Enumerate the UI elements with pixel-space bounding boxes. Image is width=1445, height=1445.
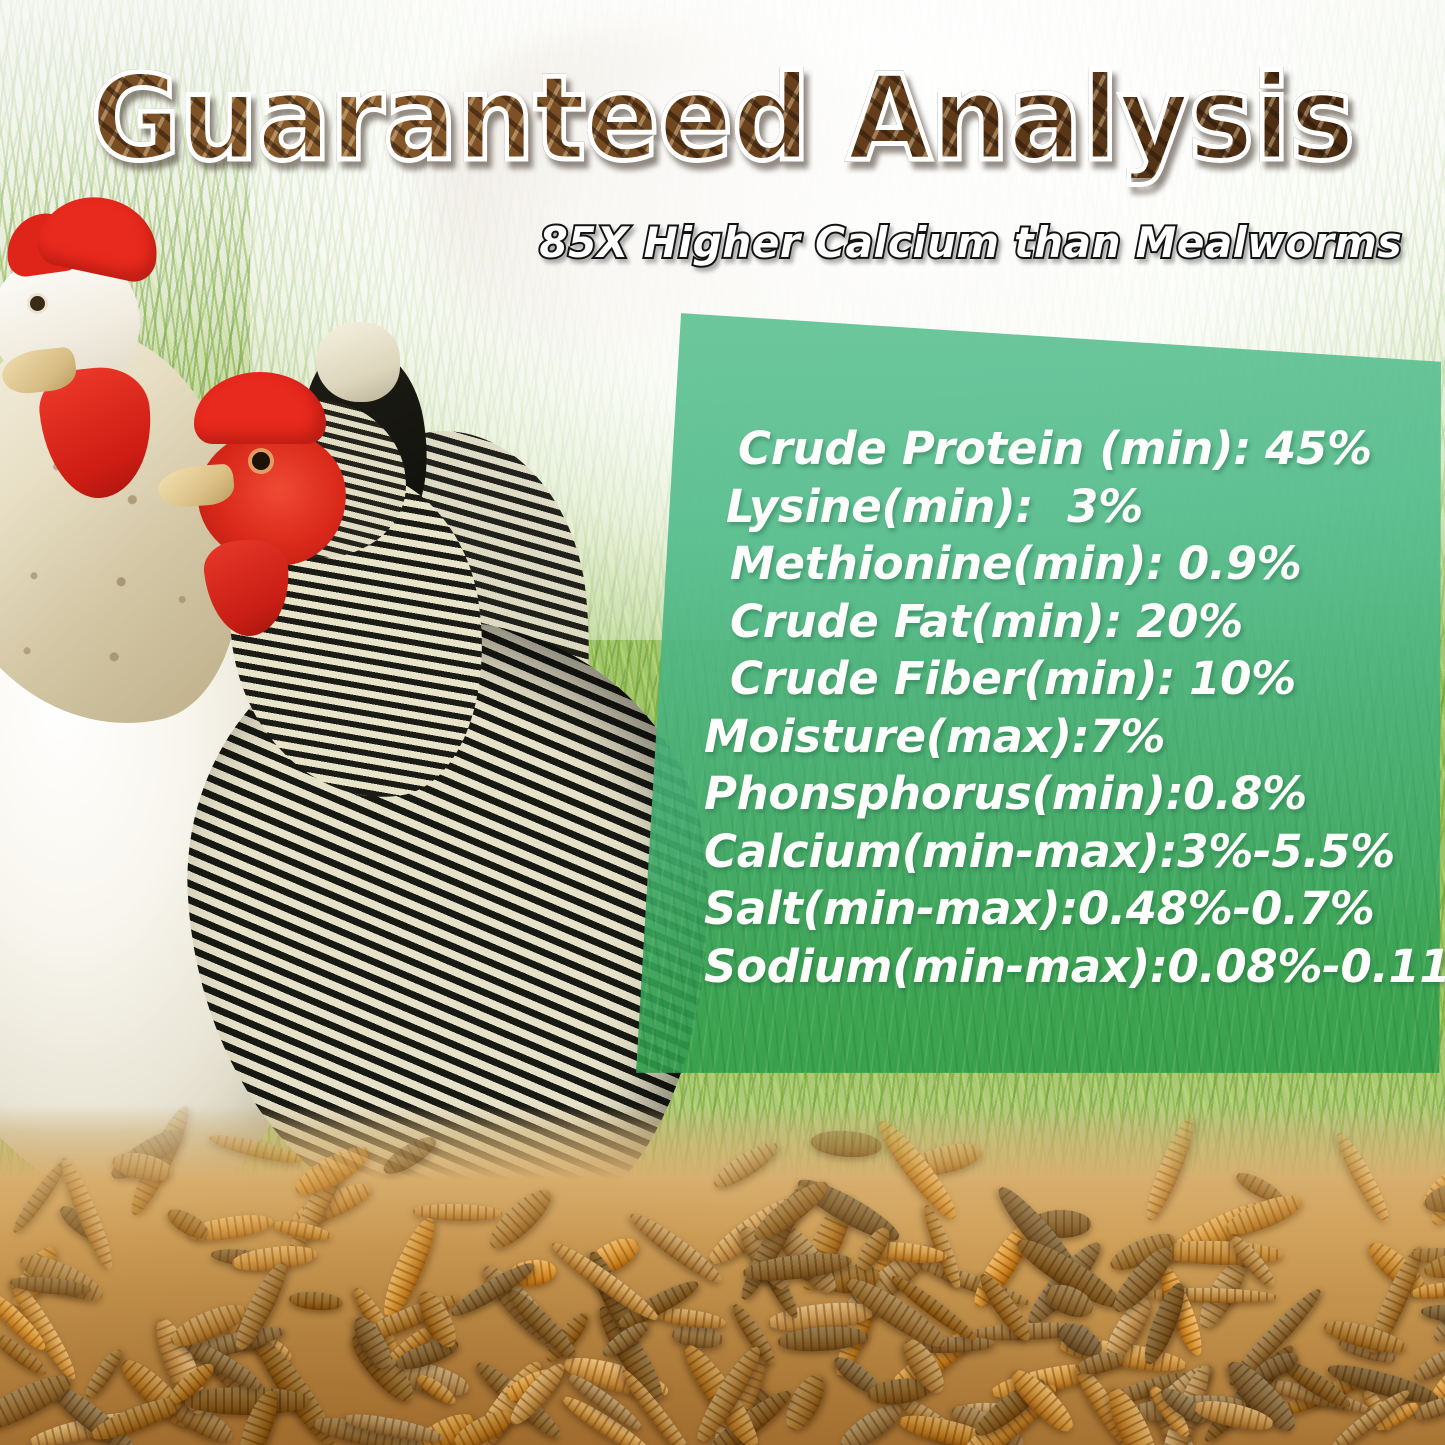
larva: [835, 1398, 907, 1445]
product-infographic-poster: Guaranteed Analysis 85X Higher Calcium t…: [0, 0, 1445, 1445]
larva: [288, 1290, 343, 1313]
nutrition-row-value: 3%: [1067, 480, 1143, 533]
larva: [482, 1182, 559, 1257]
nutrition-row-label: Lysine(min):: [726, 480, 1033, 533]
hen-rear-head: [316, 322, 400, 402]
larva: [1140, 1113, 1202, 1224]
nutrition-row-value: 3%-5.5%: [1177, 825, 1395, 878]
nutrition-row-label: Crude Protein (min):: [738, 422, 1251, 475]
nutrition-row-value: 0.8%: [1183, 767, 1307, 820]
nutrition-row: Lysine(min):3%: [704, 478, 1444, 536]
nutrition-row: Calcium(min-max):3%-5.5%: [704, 823, 1444, 881]
nutrition-row-label: Phonsphorus(min):: [704, 767, 1183, 820]
larva: [208, 1130, 305, 1168]
nutrition-row-value: 0.9%: [1178, 537, 1302, 590]
nutrition-row-value: 20%: [1136, 595, 1243, 648]
larva: [183, 1386, 310, 1414]
nutrition-row-value: 0.48%-0.7%: [1078, 882, 1375, 935]
nutrition-row: Moisture(max):7%: [704, 708, 1444, 766]
nutrition-row: Crude Fiber(min):10%: [704, 650, 1444, 708]
nutrition-row: Phonsphorus(min):0.8%: [704, 765, 1444, 823]
nutrition-row-label: Crude Fiber(min):: [730, 652, 1175, 705]
nutrition-row: Crude Protein (min):45%: [704, 420, 1444, 478]
nutrition-row-value: 0.08%-0.11%: [1168, 940, 1445, 993]
nutrition-row: Crude Fat(min):20%: [704, 593, 1444, 651]
larva: [379, 1131, 441, 1180]
larvae-individual-layer: [0, 1085, 1445, 1445]
nutrition-row: Methionine(min):0.9%: [704, 535, 1444, 593]
nutrition-row-label: Salt(min-max):: [704, 882, 1078, 935]
larva: [625, 1207, 727, 1289]
nutrition-row-label: Sodium(min-max):: [704, 940, 1168, 993]
larva: [709, 1136, 784, 1195]
nutrition-row-label: Calcium(min-max):: [704, 825, 1177, 878]
nutrition-row: Salt(min-max):0.48%-0.7%: [704, 880, 1444, 938]
hen-white-eye: [30, 296, 45, 311]
larva: [81, 1346, 126, 1402]
larva: [1331, 1128, 1394, 1224]
nutrition-row-value: 45%: [1265, 422, 1372, 475]
nutrition-list: Crude Protein (min):45%Lysine(min):3%Met…: [704, 420, 1444, 995]
hen-barred-eye: [252, 452, 270, 470]
nutrition-row-label: Crude Fat(min):: [730, 595, 1122, 648]
nutrition-row-value: 7%: [1089, 710, 1165, 763]
nutrition-row-value: 10%: [1189, 652, 1296, 705]
larva: [810, 1129, 883, 1160]
nutrition-row-label: Moisture(max):: [704, 710, 1089, 763]
nutrition-row: Sodium(min-max):0.08%-0.11%: [704, 938, 1444, 996]
nutrition-row-label: Methionine(min):: [730, 537, 1164, 590]
